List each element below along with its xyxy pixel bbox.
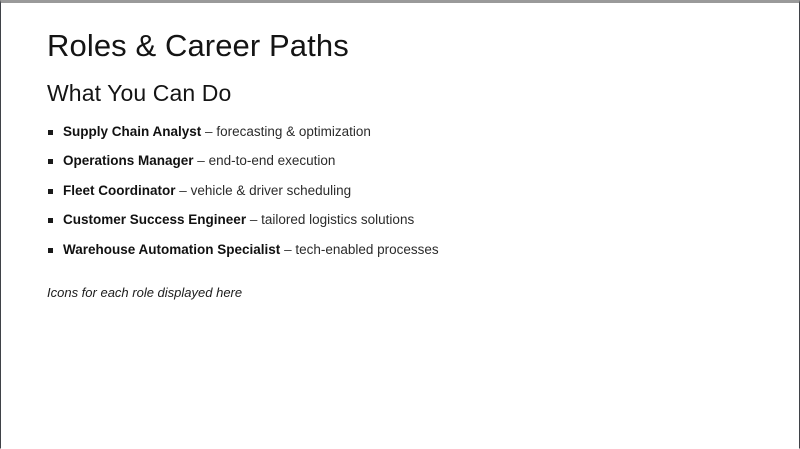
role-description: tech-enabled processes bbox=[295, 242, 438, 257]
square-bullet-icon bbox=[48, 218, 53, 223]
slide-canvas: Roles & Career Paths What You Can Do Sup… bbox=[0, 0, 800, 449]
list-item: Customer Success Engineer – tailored log… bbox=[47, 212, 779, 229]
role-label: Customer Success Engineer bbox=[63, 212, 246, 227]
role-description: end-to-end execution bbox=[209, 153, 336, 168]
slide-content: Roles & Career Paths What You Can Do Sup… bbox=[47, 3, 779, 300]
section-subtitle: What You Can Do bbox=[47, 61, 779, 105]
role-label: Fleet Coordinator bbox=[63, 183, 176, 198]
square-bullet-icon bbox=[48, 159, 53, 164]
role-label: Supply Chain Analyst bbox=[63, 124, 201, 139]
role-description: tailored logistics solutions bbox=[261, 212, 414, 227]
separator-dash: – bbox=[179, 183, 187, 198]
role-description: vehicle & driver scheduling bbox=[191, 183, 352, 198]
role-label: Operations Manager bbox=[63, 153, 194, 168]
list-item: Fleet Coordinator – vehicle & driver sch… bbox=[47, 183, 779, 200]
separator-dash: – bbox=[197, 153, 205, 168]
roles-list: Supply Chain Analyst – forecasting & opt… bbox=[47, 105, 779, 258]
list-item: Operations Manager – end-to-end executio… bbox=[47, 153, 779, 170]
separator-dash: – bbox=[205, 124, 213, 139]
square-bullet-icon bbox=[48, 189, 53, 194]
role-label: Warehouse Automation Specialist bbox=[63, 242, 280, 257]
list-item: Warehouse Automation Specialist – tech-e… bbox=[47, 242, 779, 259]
separator-dash: – bbox=[250, 212, 258, 227]
placeholder-note: Icons for each role displayed here bbox=[47, 271, 779, 301]
separator-dash: – bbox=[284, 242, 292, 257]
square-bullet-icon bbox=[48, 130, 53, 135]
role-description: forecasting & optimization bbox=[216, 124, 371, 139]
square-bullet-icon bbox=[48, 248, 53, 253]
list-item: Supply Chain Analyst – forecasting & opt… bbox=[47, 124, 779, 141]
page-title: Roles & Career Paths bbox=[47, 3, 779, 61]
